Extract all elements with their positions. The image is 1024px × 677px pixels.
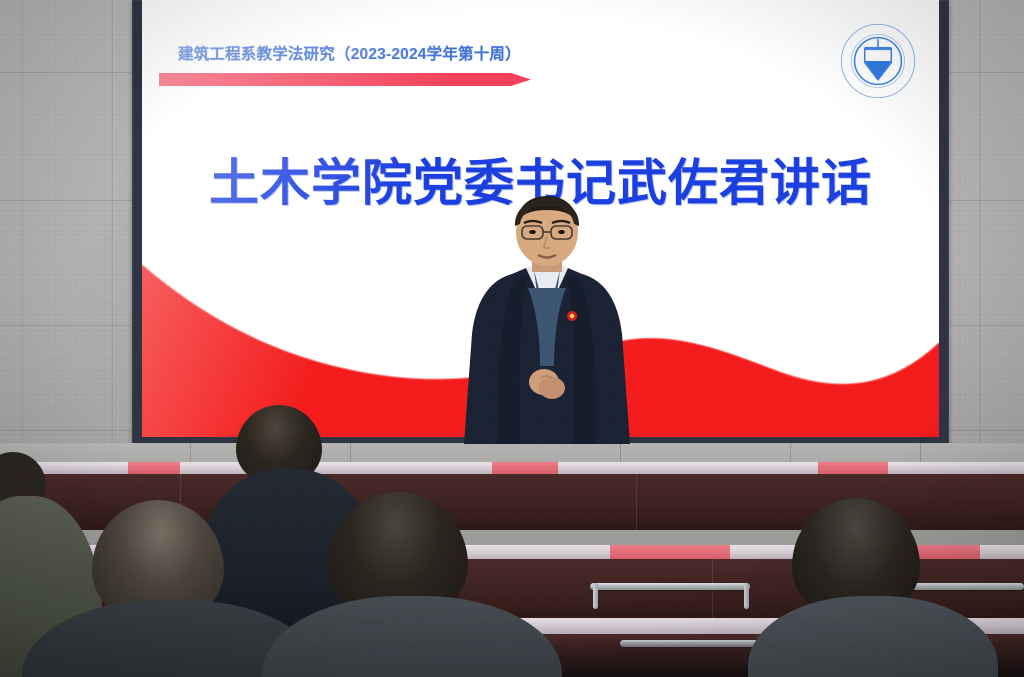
audience-person-front-left (62, 500, 272, 677)
chair-leg (744, 583, 749, 609)
desk-top-reflection (818, 462, 888, 474)
desk-top-reflection (610, 545, 730, 559)
slide-header-text: 建筑工程系教学法研究（2023-2024学年第十周） (178, 42, 521, 64)
wall-seam (112, 0, 113, 470)
wall-seam (980, 0, 981, 470)
coat (262, 596, 562, 677)
university-emblem-logo: ·· (839, 22, 917, 100)
chair-back-bar (590, 583, 750, 590)
coat (748, 596, 998, 677)
audience-person-front-center (292, 492, 522, 677)
lecture-hall-photo: 建筑工程系教学法研究（2023-2024学年第十周） ·· 土木学院党委书记武佐… (0, 0, 1024, 677)
desk-top-reflection (492, 462, 558, 474)
wall-seam (22, 0, 23, 470)
desk-top (0, 462, 1024, 474)
desk-top-reflection (128, 462, 180, 474)
desk-seam (636, 474, 637, 530)
audience-person-right (762, 498, 982, 677)
red-arrow-banner-icon (159, 72, 531, 87)
chair-leg (593, 583, 598, 609)
presenter-speaker (456, 196, 638, 458)
svg-text:·: · (859, 34, 861, 39)
svg-text:·: · (894, 34, 896, 39)
